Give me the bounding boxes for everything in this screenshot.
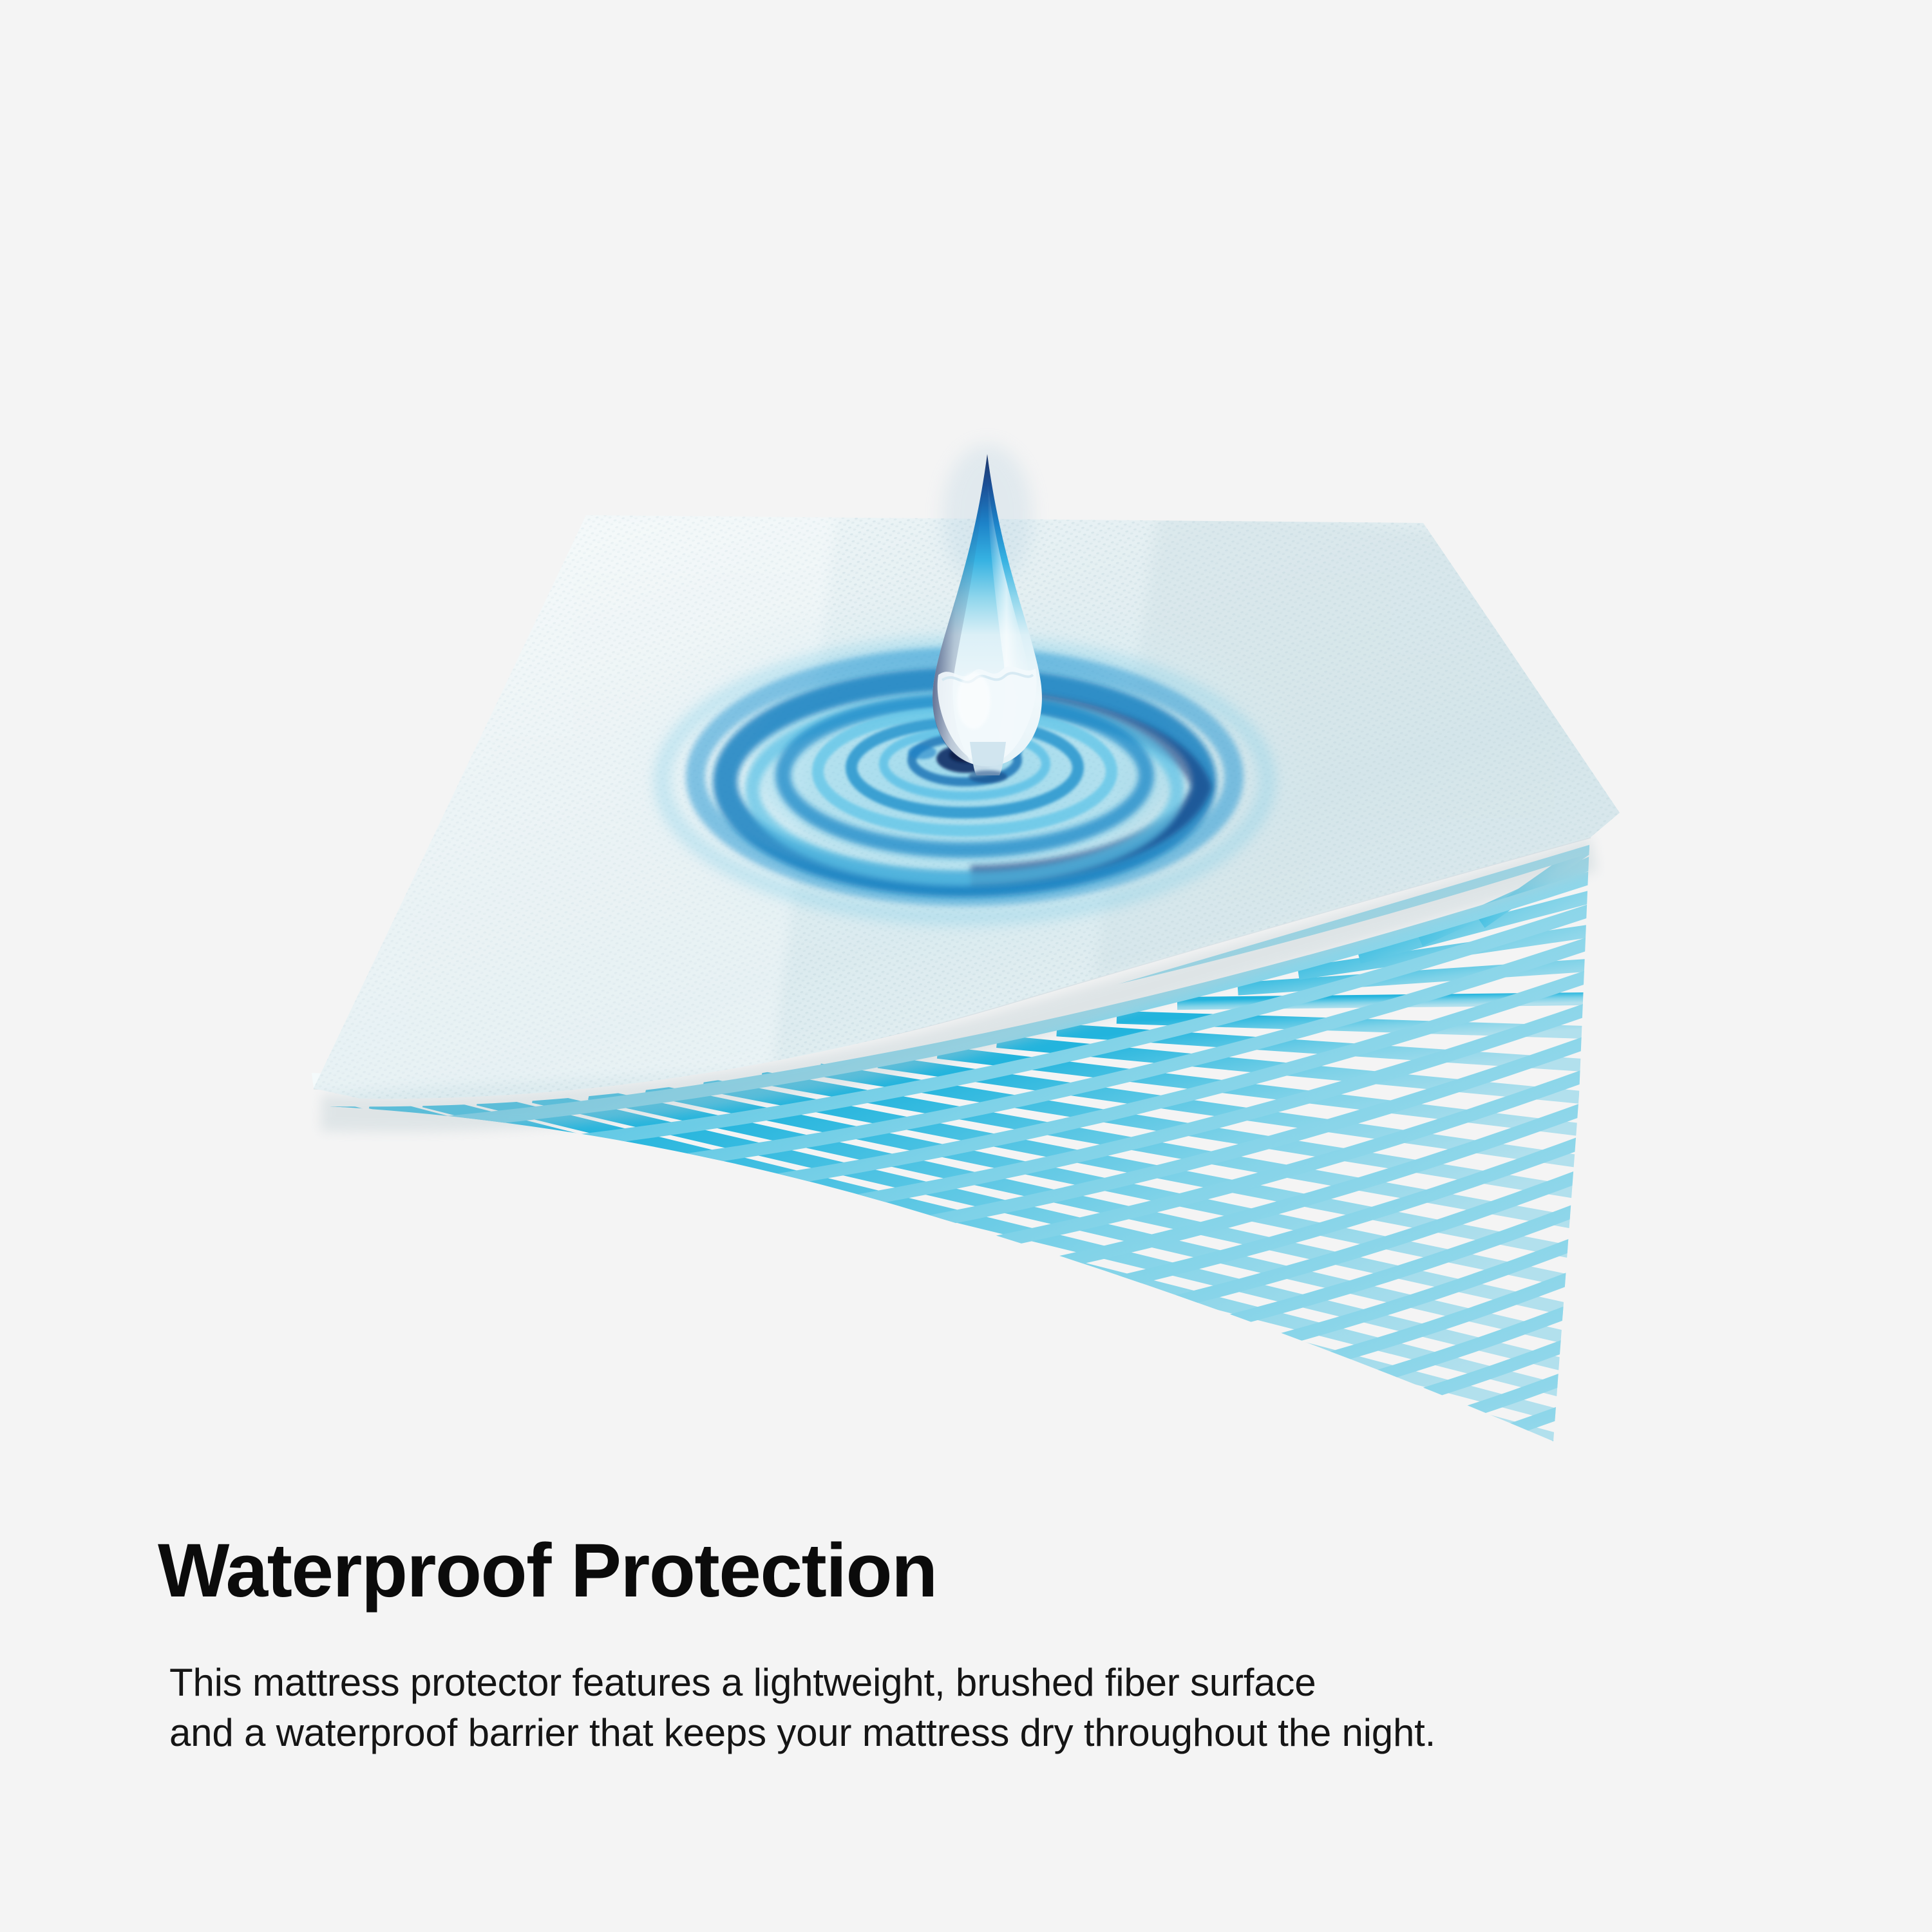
caption-block: Waterproof Protection This mattress prot… [158, 1533, 1864, 1758]
product-feature-card: Waterproof Protection This mattress prot… [0, 0, 1932, 1932]
page-title: Waterproof Protection [158, 1533, 1864, 1609]
description-line-1: This mattress protector features a light… [169, 1658, 1864, 1708]
waterproof-mattress-protector-illustration [0, 0, 1932, 1501]
description-line-2: and a waterproof barrier that keeps your… [169, 1708, 1864, 1758]
description-text: This mattress protector features a light… [158, 1658, 1864, 1758]
